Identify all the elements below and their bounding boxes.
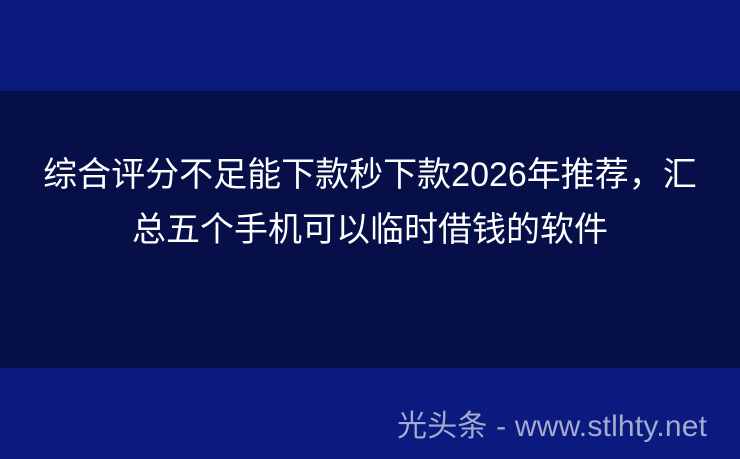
banner-headline: 综合评分不足能下款秒下款2026年推荐，汇总五个手机可以临时借钱的软件	[42, 148, 698, 258]
promo-banner: 综合评分不足能下款秒下款2026年推荐，汇总五个手机可以临时借钱的软件 光头条 …	[0, 0, 740, 459]
top-color-band	[0, 0, 740, 91]
site-watermark: 光头条 - www.stlhty.net	[397, 408, 723, 446]
